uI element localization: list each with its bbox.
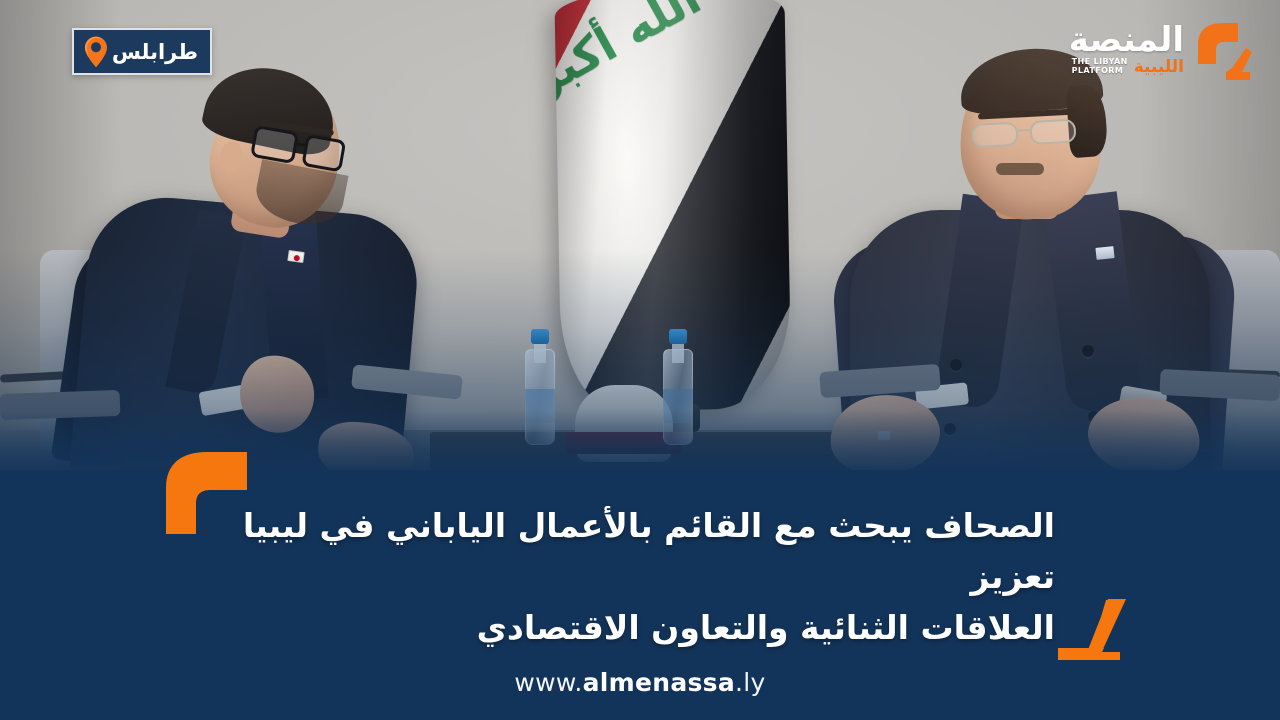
brand-subline: THE LIBYAN PLATFORM الليبية [1072,58,1184,76]
site-url[interactable]: www.almenassa.ly [0,668,1280,697]
right-official-moustache [996,163,1044,175]
japan-flag-pin-icon [287,250,304,263]
brand-name-arabic: المنصة [1069,24,1184,56]
headline: الصحاف يبحث مع القائم بالأعمال الياباني … [215,500,1055,653]
map-pin-icon [82,35,110,69]
brand-logo[interactable]: المنصة THE LIBYAN PLATFORM الليبية [1046,14,1264,102]
suit-button [950,359,962,371]
brand-mark-icon [1188,18,1264,90]
url-prefix: www. [514,668,582,697]
location-label: طرابلس [110,40,200,64]
suit-button [1082,345,1094,357]
url-name: almenassa [583,668,735,697]
headline-line-2: العلاقات الثنائية والتعاون الاقتصادي [215,602,1055,653]
quote-close-icon [1052,598,1128,662]
brand-wordmark: المنصة THE LIBYAN PLATFORM الليبية [1069,24,1184,76]
flag-pin-icon [1095,246,1114,260]
url-tld: .ly [735,668,766,697]
headline-line-1: الصحاف يبحث مع القائم بالأعمال الياباني … [215,500,1055,602]
news-card: الله أكبر [0,0,1280,720]
location-badge[interactable]: طرابلس [72,28,212,75]
brand-name-arabic-secondary: الليبية [1134,59,1184,76]
brand-name-english: THE LIBYAN PLATFORM [1072,58,1128,76]
